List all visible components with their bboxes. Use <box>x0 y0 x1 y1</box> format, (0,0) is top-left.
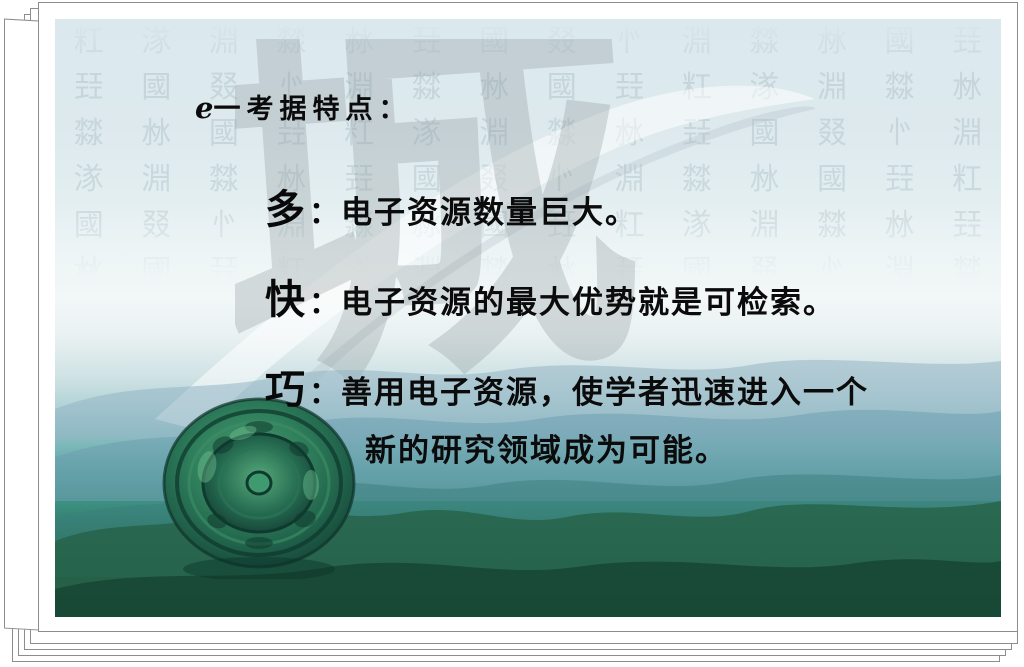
slide-stage: 䉺㴚淵㵘沝㠭國叕㣺淵㵘沝國㠭㠭國叕㣺淵㵘沝國㠭䉺㴚淵㵘沝㵘沝國㠭䉺㴚淵㵘沝㠭國叕… <box>0 0 1024 667</box>
slide-heading: e一考据特点： <box>195 87 411 126</box>
seal-glyph: 㣺 <box>209 211 239 241</box>
seal-script-pattern: 䉺㴚淵㵘沝㠭國叕㣺淵㵘沝國㠭㠭國叕㣺淵㵘沝國㠭䉺㴚淵㵘沝㵘沝國㠭䉺㴚淵㵘沝㠭國叕… <box>55 19 1001 279</box>
seal-glyph: 㴚 <box>749 73 779 103</box>
seal-glyph: 㵘 <box>276 27 306 57</box>
seal-glyph: 㠭 <box>614 73 644 103</box>
seal-glyph: 㠭 <box>952 211 982 241</box>
seal-glyph: 㵘 <box>749 27 779 57</box>
bullet-colon-qiao: ： <box>309 368 339 412</box>
seal-glyph: 國 <box>141 257 171 287</box>
seal-glyph: 淵 <box>749 211 779 241</box>
bullet-colon-kuai: ： <box>309 278 339 322</box>
seal-glyph: 䉺 <box>74 27 104 57</box>
bullet-body-qiao: 善用电子资源，使学者迅速进入一个 <box>341 367 869 412</box>
bullet-key-duo: 多 <box>265 177 305 235</box>
seal-glyph: 㵘 <box>209 165 239 195</box>
seal-glyph: 淵 <box>682 27 712 57</box>
seal-glyph: 㴚 <box>412 119 442 149</box>
seal-glyph: 㵘 <box>547 119 577 149</box>
bullet-body-qiao-continuation: 新的研究领域成为可能。 <box>365 425 728 470</box>
seal-glyph: 淵 <box>885 257 915 287</box>
seal-glyph: 國 <box>749 119 779 149</box>
seal-glyph: 沝 <box>614 119 644 149</box>
seal-glyph: 淵 <box>817 73 847 103</box>
seal-glyph: 國 <box>817 165 847 195</box>
seal-glyph: 叕 <box>141 211 171 241</box>
seal-glyph: 叕 <box>547 27 577 57</box>
bullet-key-kuai: 快 <box>265 267 305 325</box>
bullet-item-duo: 多 ： 电子资源数量巨大。 <box>265 177 638 235</box>
bullet-item-kuai: 快 ： 电子资源的最大优势就是可检索。 <box>265 267 836 325</box>
seal-glyph: 㠭 <box>682 119 712 149</box>
seal-glyph: 㣺 <box>885 119 915 149</box>
seal-glyph: 淵 <box>479 119 509 149</box>
seal-glyph: 叕 <box>817 119 847 149</box>
seal-glyph: 沝 <box>74 257 104 287</box>
seal-glyph: 沝 <box>344 27 374 57</box>
seal-glyph: 㵘 <box>682 165 712 195</box>
seal-glyph: 㠭 <box>209 257 239 287</box>
seal-glyph: 國 <box>479 27 509 57</box>
heading-rest: 一考据特点： <box>213 94 411 125</box>
seal-glyph: 㣺 <box>614 27 644 57</box>
seal-glyph: 㴚 <box>74 165 104 195</box>
slide-canvas: 䉺㴚淵㵘沝㠭國叕㣺淵㵘沝國㠭㠭國叕㣺淵㵘沝國㠭䉺㴚淵㵘沝㵘沝國㠭䉺㴚淵㵘沝㠭國叕… <box>55 19 1001 617</box>
seal-glyph: 㠭 <box>952 27 982 57</box>
presentation-slide: 䉺㴚淵㵘沝㠭國叕㣺淵㵘沝國㠭㠭國叕㣺淵㵘沝國㠭䉺㴚淵㵘沝㵘沝國㠭䉺㴚淵㵘沝㠭國叕… <box>38 2 1018 632</box>
bullet-item-qiao: 巧 ： 善用电子资源，使学者迅速进入一个 <box>265 357 869 415</box>
seal-glyph: 淵 <box>952 119 982 149</box>
seal-glyph: 䉺 <box>952 165 982 195</box>
seal-glyph: 䉺 <box>682 73 712 103</box>
seal-glyph: 沝 <box>885 211 915 241</box>
seal-glyph: 㠭 <box>412 27 442 57</box>
seal-glyph: 㵘 <box>885 73 915 103</box>
seal-glyph: 國 <box>141 73 171 103</box>
bronze-mirror-artifact <box>159 397 359 579</box>
seal-glyph: 國 <box>547 73 577 103</box>
seal-glyph: 㠭 <box>74 73 104 103</box>
seal-glyph: 㴚 <box>141 27 171 57</box>
seal-glyph: 沝 <box>952 73 982 103</box>
seal-glyph: 㠭 <box>885 165 915 195</box>
bullet-body-kuai: 电子资源的最大优势就是可检索。 <box>341 277 836 322</box>
bullet-key-qiao: 巧 <box>265 357 305 415</box>
seal-glyph: 國 <box>74 211 104 241</box>
seal-glyph: 㵘 <box>412 73 442 103</box>
seal-glyph: 沝 <box>817 27 847 57</box>
seal-glyph: 沝 <box>479 73 509 103</box>
seal-glyph: 國 <box>885 27 915 57</box>
seal-glyph: 沝 <box>749 165 779 195</box>
seal-glyph: 㵘 <box>74 119 104 149</box>
heading-latin-e: e <box>195 91 213 125</box>
seal-glyph: 淵 <box>209 27 239 57</box>
seal-glyph: 㵘 <box>952 257 982 287</box>
seal-glyph: 㵘 <box>817 211 847 241</box>
bullet-colon-duo: ： <box>309 188 339 232</box>
bullet-body-duo: 电子资源数量巨大。 <box>341 187 638 232</box>
seal-glyph: 㴚 <box>682 211 712 241</box>
seal-glyph: 沝 <box>141 119 171 149</box>
seal-glyph: 淵 <box>141 165 171 195</box>
